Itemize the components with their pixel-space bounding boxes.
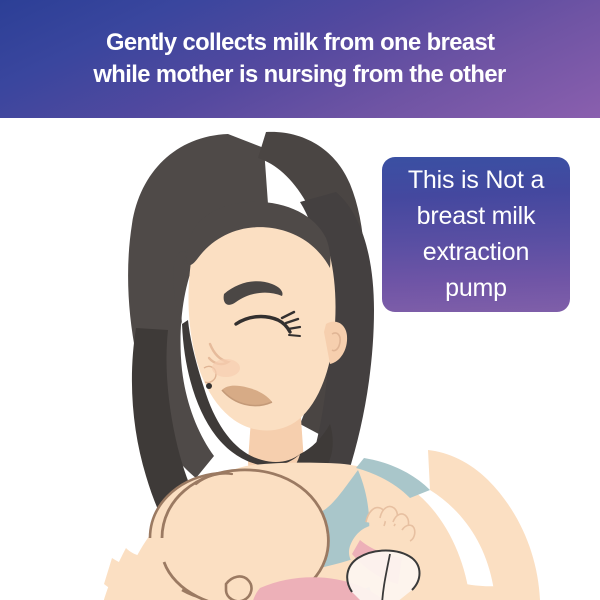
callout-badge: This is Not a breast milk extraction pum…: [382, 157, 570, 312]
headline-line-1: Gently collects milk from one breast: [106, 27, 494, 59]
headline-line-2: while mother is nursing from the other: [94, 59, 506, 91]
badge-line-1: This is Not a: [408, 162, 544, 198]
header-banner: Gently collects milk from one breast whi…: [0, 0, 600, 118]
badge-line-4: pump: [445, 270, 507, 306]
infographic-page: Gently collects milk from one breast whi…: [0, 0, 600, 600]
badge-line-3: extraction: [423, 234, 529, 270]
badge-line-2: breast milk: [417, 198, 536, 234]
